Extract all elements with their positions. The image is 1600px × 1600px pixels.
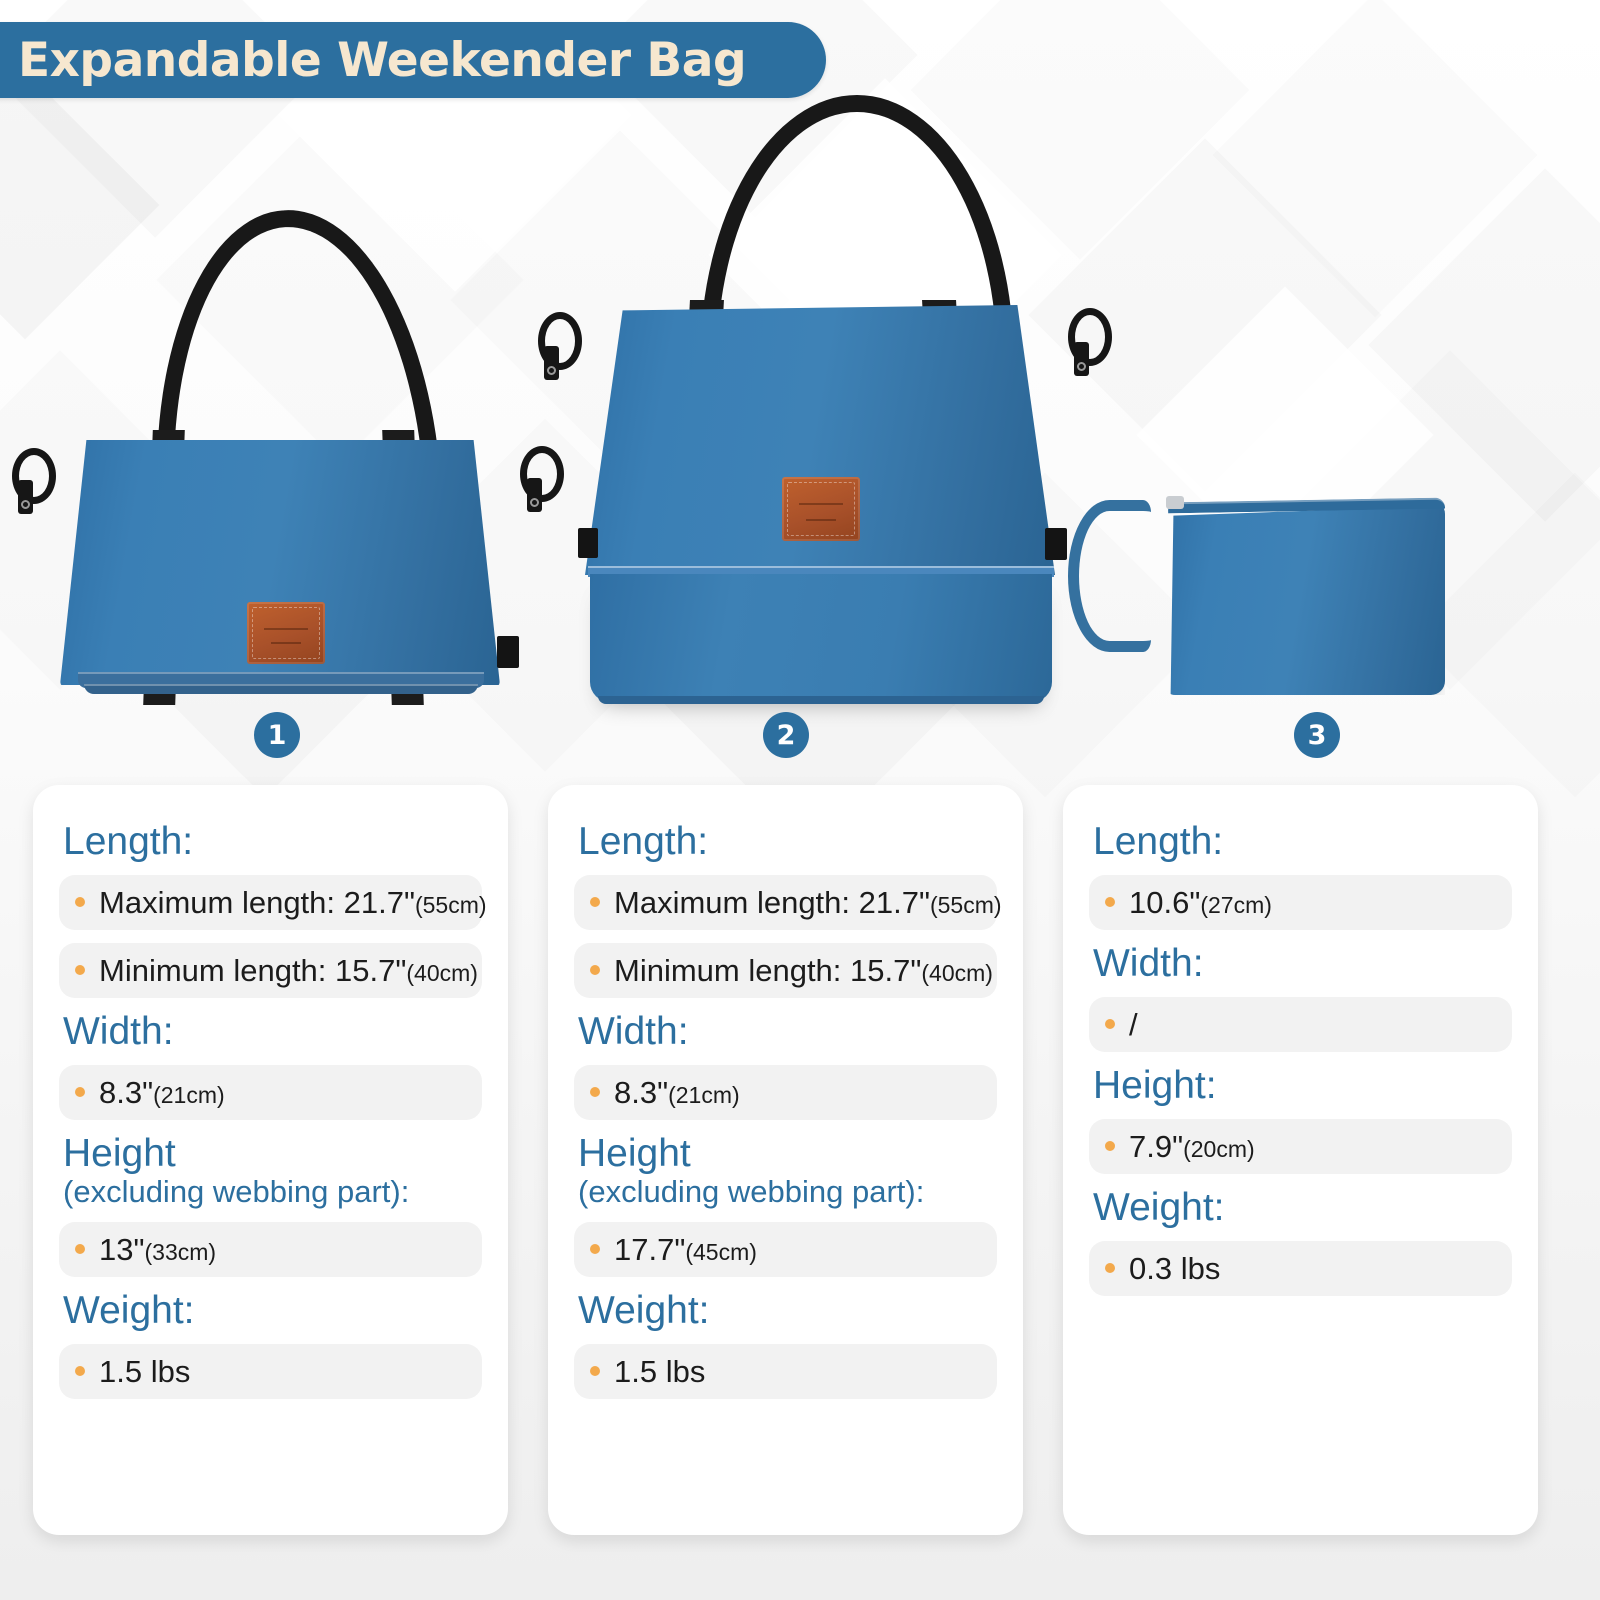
spec-value-cm: (45cm) bbox=[685, 1239, 757, 1265]
spec-value-cm: (40cm) bbox=[406, 960, 478, 986]
spec-row-width-3: / bbox=[1089, 997, 1512, 1052]
product-image-2 bbox=[520, 100, 1120, 720]
spec-value: 1.5 lbs bbox=[614, 1356, 705, 1387]
spec-value-cm: (20cm) bbox=[1183, 1136, 1255, 1162]
spec-label-height-1: Height bbox=[63, 1132, 176, 1175]
spec-label-height-3: Height: bbox=[1093, 1064, 1217, 1107]
bottom-zipper-edge-1 bbox=[84, 684, 478, 694]
bullet-icon bbox=[590, 1244, 600, 1254]
spec-label-width-1: Width: bbox=[63, 1010, 174, 1053]
product-badge-2-label: 2 bbox=[777, 720, 796, 751]
zipper-pull-left-1 bbox=[18, 480, 33, 514]
spec-row-width-1: 8.3"(21cm) bbox=[59, 1065, 482, 1120]
spec-value: 7.9"(20cm) bbox=[1129, 1131, 1255, 1162]
product-image-3 bbox=[1060, 100, 1480, 720]
spec-row-height-1: 13"(33cm) bbox=[59, 1222, 482, 1277]
bullet-icon bbox=[1105, 897, 1115, 907]
spec-heading-weight-3: Weight: bbox=[1093, 1187, 1512, 1229]
spec-value: Maximum length: 21.7"(55cm) bbox=[99, 887, 487, 918]
spec-value-cm: (27cm) bbox=[1200, 892, 1272, 918]
spec-value: 1.5 lbs bbox=[99, 1356, 190, 1387]
spec-value-cm: (33cm) bbox=[145, 1239, 217, 1265]
spec-value-text: 17.7" bbox=[614, 1232, 685, 1267]
spec-value-text: 1.5 lbs bbox=[99, 1354, 190, 1389]
spec-row-max-length-2: Maximum length: 21.7"(55cm) bbox=[574, 875, 997, 930]
product-badge-1-label: 1 bbox=[268, 720, 287, 751]
page-title: Expandable Weekender Bag bbox=[18, 33, 746, 88]
spec-label-weight-1: Weight: bbox=[63, 1289, 195, 1332]
spec-value: 0.3 lbs bbox=[1129, 1253, 1220, 1284]
spec-heading-width-1: Width: bbox=[63, 1011, 482, 1053]
spec-heading-width-3: Width: bbox=[1093, 943, 1512, 985]
spec-value-text: Maximum length: 21.7" bbox=[99, 885, 415, 920]
spec-label-width-3: Width: bbox=[1093, 942, 1204, 985]
bullet-icon bbox=[590, 897, 600, 907]
spec-heading-width-2: Width: bbox=[578, 1011, 997, 1053]
spec-heading-height-3: Height: bbox=[1093, 1065, 1512, 1107]
spec-card-1: Length: Maximum length: 21.7"(55cm) Mini… bbox=[33, 785, 508, 1535]
spec-row-weight-1: 1.5 lbs bbox=[59, 1344, 482, 1399]
bullet-icon bbox=[1105, 1019, 1115, 1029]
bullet-icon bbox=[75, 1087, 85, 1097]
spec-label-length-2: Length: bbox=[578, 820, 708, 863]
spec-row-max-length-1: Maximum length: 21.7"(55cm) bbox=[59, 875, 482, 930]
spec-heading-weight-1: Weight: bbox=[63, 1290, 482, 1332]
spec-value-cm: (21cm) bbox=[153, 1082, 225, 1108]
spec-value-text: 8.3" bbox=[614, 1075, 668, 1110]
zipper-pull-left-2 bbox=[544, 346, 559, 380]
side-tab-1 bbox=[497, 636, 519, 668]
spec-heading-height-2: Height (excluding webbing part): bbox=[578, 1133, 997, 1210]
spec-label-length-3: Length: bbox=[1093, 820, 1223, 863]
product-badge-2: 2 bbox=[763, 712, 809, 758]
wrist-strap-loop-3 bbox=[1068, 500, 1151, 652]
spec-value-text: Minimum length: 15.7" bbox=[99, 953, 406, 988]
bullet-icon bbox=[75, 897, 85, 907]
spec-cards-row: Length: Maximum length: 21.7"(55cm) Mini… bbox=[33, 785, 1567, 1535]
zipper-slider-3 bbox=[1166, 496, 1184, 509]
spec-value-text: Minimum length: 15.7" bbox=[614, 953, 921, 988]
spec-row-height-3: 7.9"(20cm) bbox=[1089, 1119, 1512, 1174]
spec-card-2: Length: Maximum length: 21.7"(55cm) Mini… bbox=[548, 785, 1023, 1535]
product-badge-1: 1 bbox=[254, 712, 300, 758]
spec-row-min-length-2: Minimum length: 15.7"(40cm) bbox=[574, 943, 997, 998]
spec-value: 8.3"(21cm) bbox=[99, 1077, 225, 1108]
spec-value-text: 0.3 lbs bbox=[1129, 1251, 1220, 1286]
bullet-icon bbox=[75, 1366, 85, 1376]
leather-logo-patch-1 bbox=[247, 602, 325, 664]
spec-label-width-2: Width: bbox=[578, 1010, 689, 1053]
spec-label-length-1: Length: bbox=[63, 820, 193, 863]
spec-row-width-2: 8.3"(21cm) bbox=[574, 1065, 997, 1120]
spec-value-cm: (21cm) bbox=[668, 1082, 740, 1108]
spec-value-text: 10.6" bbox=[1129, 885, 1200, 920]
bullet-icon bbox=[75, 965, 85, 975]
spec-value: 8.3"(21cm) bbox=[614, 1077, 740, 1108]
spec-value: Minimum length: 15.7"(40cm) bbox=[614, 955, 993, 986]
side-tab-left-2 bbox=[578, 528, 598, 558]
spec-value-text: Maximum length: 21.7" bbox=[614, 885, 930, 920]
spec-label-weight-3: Weight: bbox=[1093, 1186, 1225, 1229]
spec-value-cm: (40cm) bbox=[921, 960, 993, 986]
spec-value: Maximum length: 21.7"(55cm) bbox=[614, 887, 1002, 918]
spec-heading-length-3: Length: bbox=[1093, 821, 1512, 863]
spec-value-cm: (55cm) bbox=[415, 892, 487, 918]
bullet-icon bbox=[590, 1366, 600, 1376]
spec-value-text: / bbox=[1129, 1007, 1138, 1042]
product-image-1 bbox=[0, 100, 560, 700]
spec-value-text: 8.3" bbox=[99, 1075, 153, 1110]
infographic-stage: Expandable Weekender Bag bbox=[0, 0, 1600, 1600]
spec-value: / bbox=[1129, 1009, 1138, 1040]
bullet-icon bbox=[75, 1244, 85, 1254]
spec-card-3: Length: 10.6"(27cm) Width: / Height: 7.9… bbox=[1063, 785, 1538, 1535]
spec-heading-length-1: Length: bbox=[63, 821, 482, 863]
spec-row-length-3: 10.6"(27cm) bbox=[1089, 875, 1512, 930]
spec-row-height-2: 17.7"(45cm) bbox=[574, 1222, 997, 1277]
spec-sublabel-height-1: (excluding webbing part): bbox=[63, 1175, 482, 1210]
spec-sublabel-height-2: (excluding webbing part): bbox=[578, 1175, 997, 1210]
pouch-body-3 bbox=[1165, 500, 1445, 695]
spec-label-weight-2: Weight: bbox=[578, 1289, 710, 1332]
product-badge-3-label: 3 bbox=[1308, 720, 1327, 751]
bullet-icon bbox=[1105, 1141, 1115, 1151]
spec-value-text: 7.9" bbox=[1129, 1129, 1183, 1164]
spec-value-cm: (55cm) bbox=[930, 892, 1002, 918]
leather-logo-patch-2 bbox=[782, 477, 860, 541]
product-badge-3: 3 bbox=[1294, 712, 1340, 758]
spec-value: 17.7"(45cm) bbox=[614, 1234, 757, 1265]
spec-value: Minimum length: 15.7"(40cm) bbox=[99, 955, 478, 986]
spec-heading-height-1: Height (excluding webbing part): bbox=[63, 1133, 482, 1210]
bottom-edge-2 bbox=[598, 696, 1044, 704]
spec-row-weight-3: 0.3 lbs bbox=[1089, 1241, 1512, 1296]
spec-value-text: 13" bbox=[99, 1232, 145, 1267]
spec-row-min-length-1: Minimum length: 15.7"(40cm) bbox=[59, 943, 482, 998]
spec-value-text: 1.5 lbs bbox=[614, 1354, 705, 1389]
bag-expansion-panel-2 bbox=[590, 574, 1052, 702]
spec-row-weight-2: 1.5 lbs bbox=[574, 1344, 997, 1399]
spec-heading-length-2: Length: bbox=[578, 821, 997, 863]
spec-heading-weight-2: Weight: bbox=[578, 1290, 997, 1332]
spec-label-height-2: Height bbox=[578, 1132, 691, 1175]
spec-value: 13"(33cm) bbox=[99, 1234, 216, 1265]
bullet-icon bbox=[590, 965, 600, 975]
bullet-icon bbox=[1105, 1263, 1115, 1273]
spec-value: 10.6"(27cm) bbox=[1129, 887, 1272, 918]
product-image-row bbox=[0, 100, 1600, 700]
page-title-banner: Expandable Weekender Bag bbox=[0, 22, 826, 98]
bullet-icon bbox=[590, 1087, 600, 1097]
